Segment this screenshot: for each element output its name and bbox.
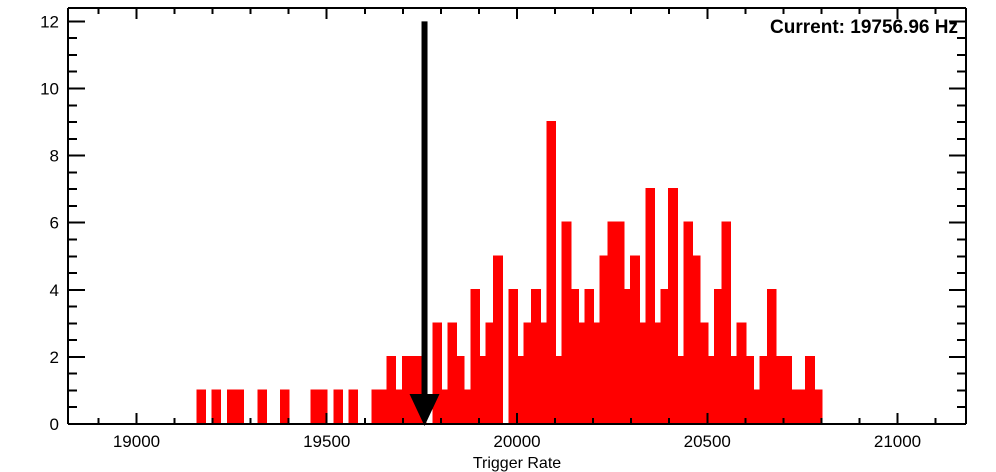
- chart-canvas: 1900019500200002050021000024681012 Trigg…: [0, 0, 996, 472]
- x-tick-label: 19000: [113, 432, 160, 451]
- x-tick-label: 20500: [684, 432, 731, 451]
- y-tick-label: 12: [40, 12, 59, 31]
- histogram-bars: [68, 122, 966, 424]
- y-tick-label: 2: [50, 348, 59, 367]
- y-tick-label: 4: [50, 281, 59, 300]
- x-tick-label: 19500: [303, 432, 350, 451]
- y-tick-label: 6: [50, 214, 59, 233]
- y-tick-label: 8: [50, 147, 59, 166]
- x-axis-title: Trigger Rate: [473, 455, 561, 472]
- x-axis-title-text: Trigger Rate: [473, 455, 561, 472]
- current-rate-text: Current: 19756.96 Hz: [770, 17, 958, 39]
- y-tick-label: 0: [50, 415, 59, 434]
- trigger-rate-histogram: 1900019500200002050021000024681012 Trigg…: [0, 0, 996, 472]
- x-tick-label: 21000: [874, 432, 921, 451]
- y-tick-label: 10: [40, 80, 59, 99]
- x-tick-label: 20000: [493, 432, 540, 451]
